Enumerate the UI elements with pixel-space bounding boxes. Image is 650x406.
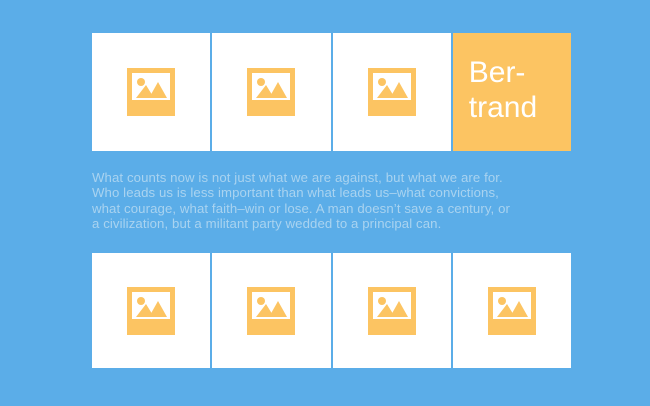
image-placeholder-icon bbox=[127, 68, 175, 116]
top-card-3[interactable] bbox=[333, 33, 451, 151]
bottom-card-1[interactable] bbox=[92, 253, 210, 368]
bottom-card-2[interactable] bbox=[212, 253, 330, 368]
bottom-card-3[interactable] bbox=[333, 253, 451, 368]
bottom-card-row bbox=[92, 253, 571, 368]
body-paragraph: What counts now is not just what we are … bbox=[92, 170, 574, 231]
slide-canvas: Ber- trand What counts now is not just w… bbox=[0, 0, 650, 406]
image-placeholder-icon bbox=[488, 287, 536, 335]
image-placeholder-icon bbox=[247, 68, 295, 116]
image-placeholder-icon bbox=[247, 287, 295, 335]
bottom-card-4[interactable] bbox=[453, 253, 571, 368]
image-placeholder-icon bbox=[368, 68, 416, 116]
top-card-2[interactable] bbox=[212, 33, 330, 151]
top-card-4-title[interactable]: Ber- trand bbox=[453, 33, 571, 151]
top-card-1[interactable] bbox=[92, 33, 210, 151]
card-title-text: Ber- trand bbox=[453, 33, 537, 126]
top-card-row: Ber- trand bbox=[92, 33, 571, 151]
image-placeholder-icon bbox=[127, 287, 175, 335]
image-placeholder-icon bbox=[368, 287, 416, 335]
